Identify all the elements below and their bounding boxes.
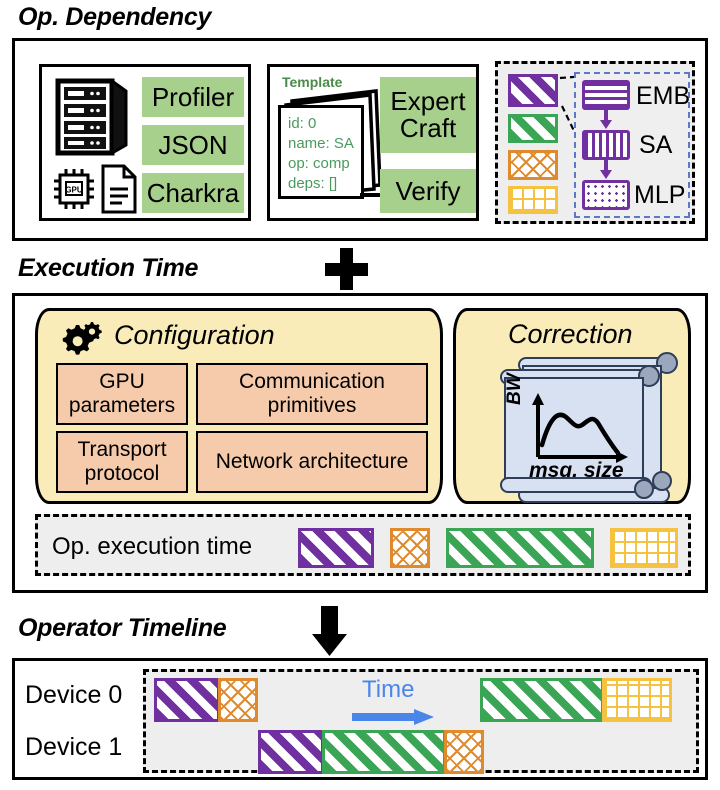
time-axis-label: Time	[362, 676, 414, 704]
swatch-yellow-dotted	[508, 186, 558, 214]
timeline-d1-block-purple	[258, 730, 324, 774]
block-mlp	[582, 180, 630, 210]
arrow-sa-to-mlp	[598, 160, 614, 179]
exec-block-yellow	[610, 528, 678, 568]
chip-verify: Verify	[380, 169, 476, 213]
section-title-op-dependency: Op. Dependency	[18, 3, 211, 32]
time-arrow-icon	[352, 708, 436, 726]
template-label: Template	[282, 74, 342, 90]
block-sa	[582, 130, 630, 160]
template-line-name: name: SA	[288, 134, 354, 154]
config-cell-gpu-parameters-text: GPU parameters	[58, 370, 186, 417]
section-title-operator-timeline: Operator Timeline	[18, 614, 226, 643]
configuration-box: Configuration GPU parameters Communicati…	[35, 308, 443, 504]
timeline-d0-block-orange	[218, 678, 258, 722]
model-graph-box: EMB SA MLP	[495, 61, 695, 224]
gpu-chip-icon: GPU	[50, 165, 98, 213]
op-execution-time-label: Op. execution time	[52, 533, 252, 561]
exec-block-orange	[390, 528, 430, 568]
config-cell-transport-protocol: Transport protocol	[56, 431, 188, 493]
config-cell-network-architecture-text: Network architecture	[216, 450, 409, 474]
config-cell-communication-primitives-text: Communication primitives	[198, 370, 426, 417]
template-craft-box: Template id: 0 name: SA op: comp deps: […	[267, 64, 479, 221]
chip-profiler: Profiler	[142, 77, 244, 117]
swatch-purple-diagonal	[508, 74, 558, 107]
plus-icon	[322, 246, 370, 292]
template-card-front: id: 0 name: SA op: comp deps: []	[278, 105, 364, 199]
label-sa: SA	[639, 131, 672, 160]
diagram-root: Op. Dependency	[0, 0, 720, 790]
timeline-track: Time	[143, 669, 699, 773]
execution-time-panel: Configuration GPU parameters Communicati…	[12, 293, 708, 593]
device-1-label: Device 1	[25, 733, 122, 762]
chip-expert-craft: Expert Craft Expert Craft	[380, 77, 476, 153]
correction-title: Correction	[508, 319, 633, 350]
exec-block-purple	[298, 528, 374, 568]
swatch-green-diagonal	[508, 114, 558, 143]
timeline-d1-block-orange	[444, 730, 484, 774]
gear-icon	[58, 321, 104, 355]
arrow-emb-to-sa	[598, 110, 614, 129]
label-emb: EMB	[636, 82, 690, 111]
swatch-orange-crosshatch	[508, 150, 558, 180]
scroll-knob-bottom-right	[652, 471, 672, 491]
chip-expert-line2: Craft	[400, 115, 456, 142]
model-detail-frame: EMB SA MLP	[574, 72, 690, 218]
operator-timeline-panel: Device 0 Device 1 Time	[12, 658, 708, 780]
config-cell-transport-protocol-text: Transport protocol	[58, 438, 186, 485]
timeline-d0-block-purple	[154, 678, 220, 722]
chip-chakra: Charkra	[142, 173, 244, 213]
correction-box: Correction BW msg. size	[453, 308, 691, 504]
timeline-d1-block-green	[322, 730, 446, 774]
scroll-bottom-bar-front	[500, 477, 652, 493]
down-arrow-icon	[310, 606, 350, 658]
document-icon	[98, 163, 140, 215]
timeline-d0-block-green	[480, 678, 604, 722]
scroll-knob-bottom-front	[634, 479, 654, 499]
block-emb	[582, 80, 630, 110]
timeline-d0-block-yellow	[602, 678, 672, 722]
chip-json: JSON	[142, 125, 244, 165]
op-execution-time-strip: Op. execution time	[35, 514, 691, 576]
exec-block-green	[446, 528, 594, 568]
op-dependency-panel: GPU Prof	[12, 38, 708, 241]
template-line-deps: deps: []	[288, 174, 354, 194]
label-mlp: MLP	[634, 181, 685, 210]
template-line-op: op: comp	[288, 154, 354, 174]
configuration-title: Configuration	[114, 320, 275, 351]
device-0-label: Device 0	[25, 681, 122, 710]
server-rack-icon	[54, 75, 132, 157]
template-line-id: id: 0	[288, 114, 354, 134]
svg-text:GPU: GPU	[65, 186, 83, 195]
config-cell-communication-primitives: Communication primitives	[196, 363, 428, 425]
trace-collection-box: GPU Prof	[39, 64, 251, 221]
config-cell-network-architecture: Network architecture	[196, 431, 428, 493]
config-cell-gpu-parameters: GPU parameters	[56, 363, 188, 425]
section-title-execution-time: Execution Time	[18, 254, 198, 283]
chip-expert-line1: Expert	[390, 88, 465, 115]
axis-label-bw: BW	[504, 373, 526, 405]
